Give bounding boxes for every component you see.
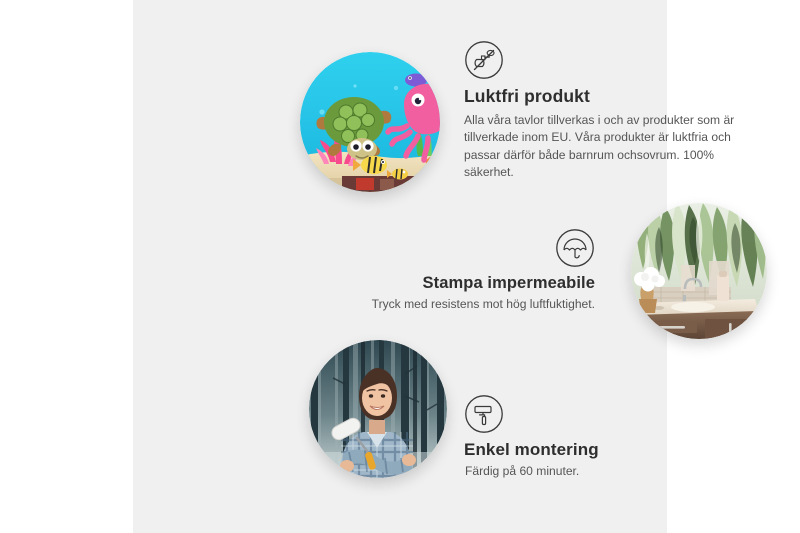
feature-body: Tryck med resistens mot hög luftfuktighe… [333, 296, 595, 313]
promo-page: Luktfri produkt Alla våra tavlor tillver… [0, 0, 800, 533]
feature-title: Stampa impermeabile [333, 274, 595, 293]
feature-body: Färdig på 60 minuter. [464, 463, 724, 480]
umbrella-icon [333, 228, 595, 268]
paint-roller-icon [464, 394, 724, 434]
underwater-scene-circle [300, 52, 440, 192]
feature-body: Alla våra tavlor tillverkas i och av pro… [464, 112, 764, 181]
content-panel: Luktfri produkt Alla våra tavlor tillver… [133, 0, 667, 533]
woman-paint-roller-forest-circle [309, 340, 447, 478]
feature-block-montering: Enkel montering Färdig på 60 minuter. [464, 394, 724, 480]
feature-title: Enkel montering [464, 440, 724, 460]
no-fragrance-icon [464, 40, 764, 80]
bathroom-botanical-circle [631, 203, 767, 339]
feature-title: Luktfri produkt [464, 86, 764, 107]
feature-block-luktfri: Luktfri produkt Alla våra tavlor tillver… [464, 40, 764, 181]
feature-block-impermeabile: Stampa impermeabile Tryck med resistens … [333, 228, 595, 313]
